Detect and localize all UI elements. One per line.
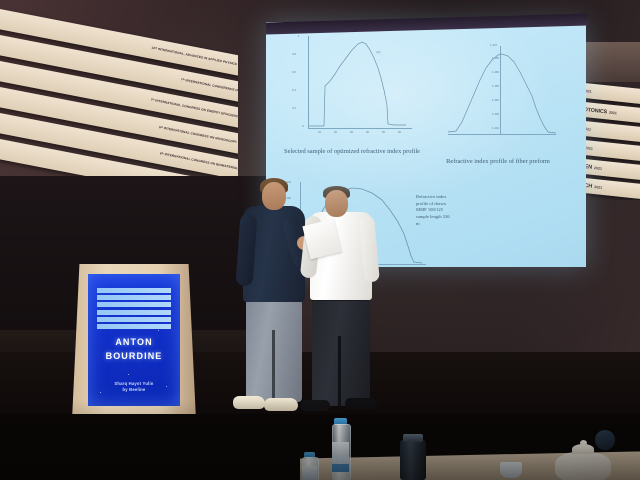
slat-year: 2021 <box>609 110 617 115</box>
note-line-1: Refractive index <box>416 194 490 201</box>
slat-year: 2021 <box>594 166 602 171</box>
speaker-left-head <box>262 182 286 210</box>
host-right-head <box>325 190 348 217</box>
chart-2-curve <box>444 46 562 144</box>
panel-sparkle <box>128 374 129 375</box>
slat-line-1: 7ᵗʰ INTERNATIONAL CONGRESS ON ENERGY EFF… <box>150 99 238 120</box>
left-banner-group: 12ᵗʰ INTERNATIONAL, ADVANCES IN APPLIED … <box>0 0 238 180</box>
note-line-2: profile of drawn <box>416 201 490 208</box>
panel-bar <box>97 324 171 329</box>
note-line-3: MMF 100/125 <box>416 207 490 214</box>
panel-bar <box>97 302 171 307</box>
slide-note-block: Refractive index profile of drawn MMF 10… <box>416 194 490 227</box>
slide-caption-right: Refractive index profile of fiber prefor… <box>434 158 562 166</box>
panel-bar <box>97 288 171 293</box>
slat-line-1: 7ᵗʰ INTERNATIONAL CONFERENCE ON <box>180 78 238 93</box>
chart-optimized-profile: 1 0.8 0.6 0.4 0.2 0 10 20 30 40 50 60 n(… <box>290 36 414 138</box>
podium-display-panel: ANTON BOURDINE Sharq Hayot Yulin by Beel… <box>88 274 180 406</box>
note-line-4: sample length 326 <box>416 214 490 221</box>
host-right-trousers <box>312 298 370 406</box>
podium: ANTON BOURDINE Sharq Hayot Yulin by Beel… <box>72 264 196 420</box>
slat-line-1: 6ᵗʰ INTERNATIONAL CONGRESS ON BIOMATERIA… <box>159 152 238 171</box>
foreground-shadow <box>0 400 640 480</box>
chart-preform-profile: 1.470 1.465 1.460 1.455 1.450 1.445 1.44… <box>444 46 562 144</box>
podium-panel-bars <box>97 288 171 331</box>
logo-line-2: by Beeline <box>88 387 180 392</box>
host-right-leg-split <box>338 336 341 406</box>
slat-line-1: 6ᵗʰ INTERNATIONAL CONGRESS ON MICROSCOPY… <box>159 126 238 146</box>
slat-line-1: 12ᵗʰ INTERNATIONAL, ADVANCES IN APPLIED … <box>151 47 238 68</box>
panel-bar <box>97 317 171 322</box>
chart-1-curve <box>290 36 414 138</box>
speaker-last-name: BOURDINE <box>88 350 180 364</box>
panel-bar <box>97 310 171 315</box>
slide-caption-left: Selected sample of optimized refractive … <box>272 148 432 156</box>
speaker-left-leg-split <box>272 330 275 402</box>
panel-sparkle <box>100 392 101 393</box>
speaker-first-name: ANTON <box>88 336 180 350</box>
slat-year: 2021 <box>585 146 593 151</box>
panel-bar <box>97 295 171 300</box>
podium-speaker-name: ANTON BOURDINE <box>88 336 180 363</box>
note-line-5: m <box>416 221 490 228</box>
slat-year: 2021 <box>594 185 602 190</box>
conference-stage-photo: 12ᵗʰ INTERNATIONAL, ADVANCES IN APPLIED … <box>0 0 640 480</box>
